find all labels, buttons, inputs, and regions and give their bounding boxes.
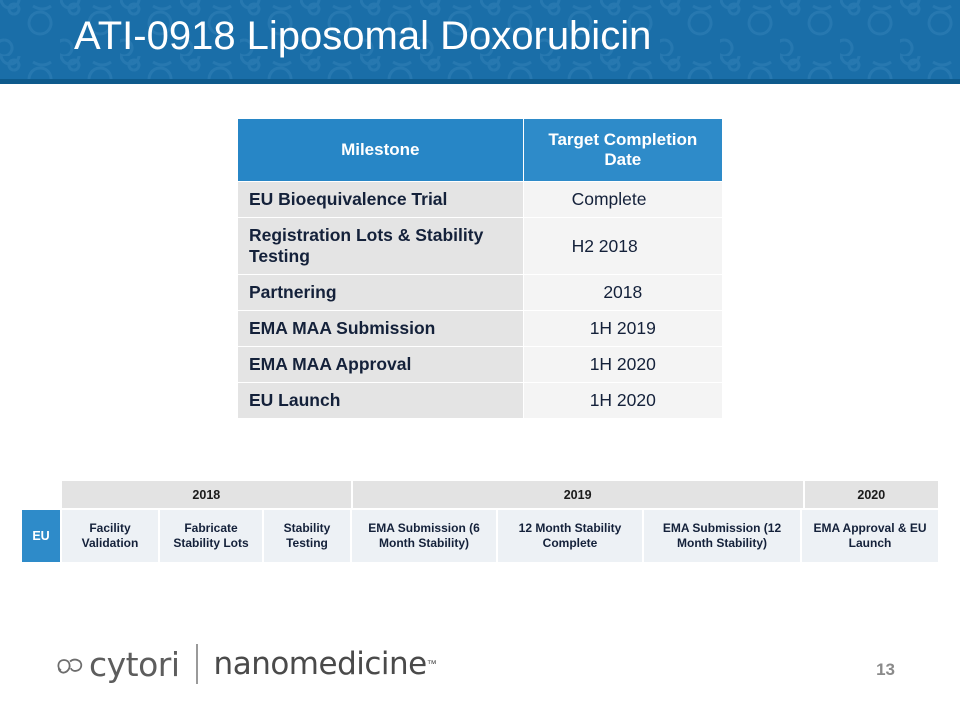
logo-trademark-symbol: ™ [427,659,437,670]
logo-text-cytori: cytori [89,645,180,684]
timeline-year: 2020 [805,481,938,508]
milestone-date: 1H 2019 [523,311,722,347]
header-bottom-rule [0,79,960,84]
company-logo: cytori nanomedicine ™ [55,640,437,688]
table-row: EMA MAA Submission 1H 2019 [238,311,723,347]
slide-header-banner: ATI-0918 Liposomal Doxorubicin [0,0,960,84]
timeline-year: 2018 [62,481,353,508]
milestone-table: Milestone Target Completion Date EU Bioe… [237,118,723,419]
milestone-date: 1H 2020 [523,383,722,419]
milestone-date: 2018 [523,275,722,311]
timeline-phase: EMA Submission (12 Month Stability) [644,510,802,562]
milestone-name: EU Bioequivalence Trial [238,182,524,218]
table-row: EU Launch 1H 2020 [238,383,723,419]
milestone-date: 1H 2020 [523,347,722,383]
logo-text-nanomedicine: nanomedicine [214,646,427,682]
timeline-region-label: EU [22,510,60,562]
milestone-name: EMA MAA Submission [238,311,524,347]
page-title: ATI-0918 Liposomal Doxorubicin [74,14,651,59]
milestone-name: EMA MAA Approval [238,347,524,383]
table-row: EU Bioequivalence Trial Complete [238,182,723,218]
timeline-phase: Fabricate Stability Lots [160,510,264,562]
timeline-phase: 12 Month Stability Complete [498,510,644,562]
timeline-phase: Stability Testing [264,510,352,562]
timeline-phase: EMA Approval & EU Launch [802,510,938,562]
page-number: 13 [876,660,895,680]
milestone-name: Partnering [238,275,524,311]
timeline-year: 2019 [353,481,805,508]
table-row: Partnering 2018 [238,275,723,311]
table-row: Registration Lots & Stability Testing H2… [238,218,723,275]
column-header-target-completion-date: Target Completion Date [523,119,722,182]
milestone-name: EU Launch [238,383,524,419]
timeline-phase: Facility Validation [62,510,160,562]
table-row: EMA MAA Approval 1H 2020 [238,347,723,383]
milestone-date: Complete [523,182,722,218]
timeline-phase-row: EU Facility Validation Fabricate Stabili… [22,510,938,562]
milestone-name: Registration Lots & Stability Testing [238,218,524,275]
timeline-chart: 2018 2019 2020 EU Facility Validation Fa… [22,481,938,562]
timeline-year-header: 2018 2019 2020 [62,481,938,508]
timeline-phase: EMA Submission (6 Month Stability) [352,510,498,562]
milestone-date: H2 2018 [523,218,722,275]
column-header-milestone: Milestone [238,119,524,182]
logo-divider [196,644,198,684]
table-header-row: Milestone Target Completion Date [238,119,723,182]
cytori-logo-icon [55,651,85,681]
